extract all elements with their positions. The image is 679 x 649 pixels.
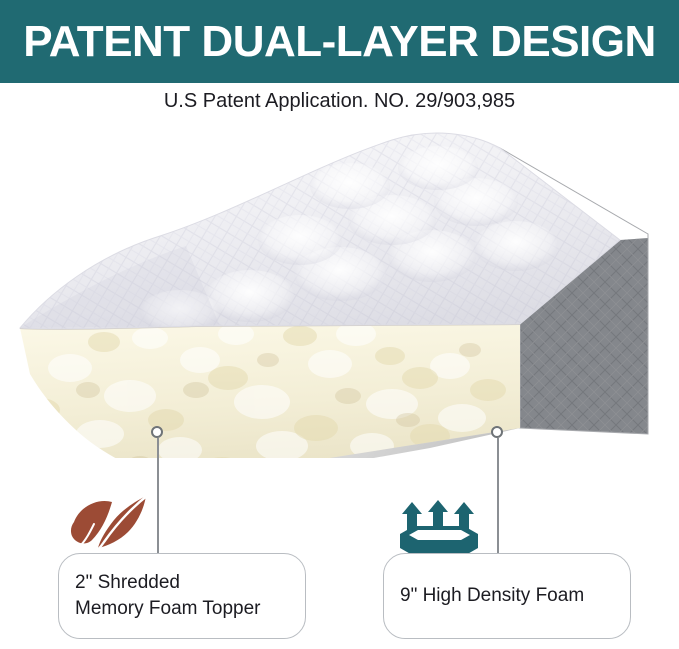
mattress-support-arrows-icon (396, 498, 492, 560)
patent-subtitle: U.S Patent Application. NO. 29/903,985 (0, 88, 679, 114)
leader-line-right (497, 438, 499, 560)
page-title: PATENT DUAL-LAYER DESIGN (0, 16, 679, 68)
callout-box-shredded-memory-foam-topper[interactable]: 2" Shredded Memory Foam Topper (58, 553, 306, 639)
callout-label-left: 2" Shredded Memory Foam Topper (59, 570, 261, 622)
product-image (0, 128, 679, 458)
feather-icon (64, 494, 160, 556)
callout-label-right: 9" High Density Foam (384, 583, 584, 609)
product-infographic: PATENT DUAL-LAYER DESIGN U.S Patent Appl… (0, 0, 679, 649)
callout-box-high-density-foam[interactable]: 9" High Density Foam (383, 553, 631, 639)
callout-marker-left (151, 426, 163, 438)
callout-marker-right (491, 426, 503, 438)
